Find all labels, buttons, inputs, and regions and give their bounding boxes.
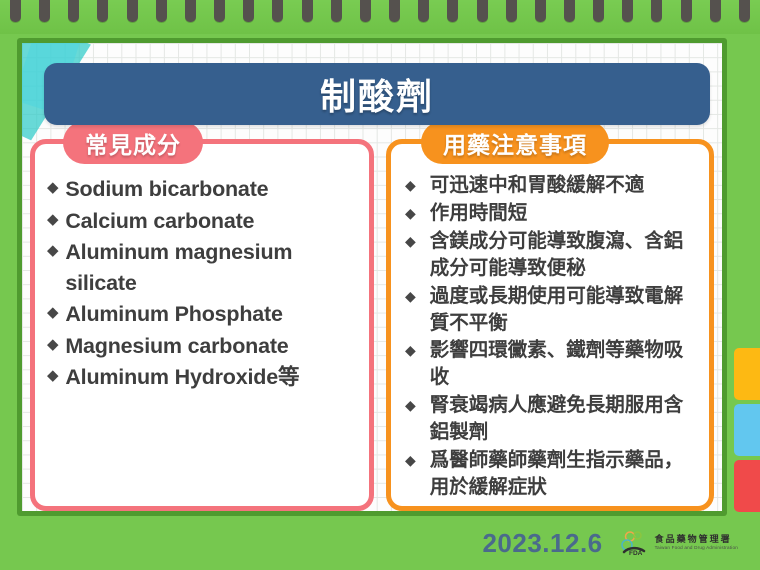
- title-banner: 制酸劑: [44, 63, 710, 125]
- diamond-bullet-icon: ◆: [47, 368, 58, 383]
- infographic-poster: 制酸劑 常見成分 ◆ Sodium bicarbonate ◆: [0, 0, 760, 570]
- spiral-ring-icon: [651, 0, 662, 22]
- list-item-label: 可迅速中和胃酸緩解不適: [430, 172, 645, 199]
- list-item-label: Aluminum magnesium silicate: [65, 237, 361, 298]
- list-item: ◆ 含鎂成分可能導致腹瀉、含鋁成分可能導致便秘: [401, 228, 701, 282]
- diamond-bullet-icon: ◆: [405, 289, 416, 303]
- list-item: ◆ Sodium bicarbonate: [47, 174, 361, 205]
- diamond-bullet-icon: ◆: [405, 234, 416, 248]
- spiral-ring-icon: [68, 0, 79, 22]
- svg-text:FDA: FDA: [629, 550, 643, 556]
- precautions-panel: 用藥注意事項 ◆ 可迅速中和胃酸緩解不適 ◆ 作用時間短 ◆: [386, 139, 714, 511]
- spiral-ring-icon: [593, 0, 604, 22]
- tfda-logo-mark-icon: FDA: [621, 530, 651, 556]
- common-ingredients-list: ◆ Sodium bicarbonate ◆ Calcium carbonate…: [35, 144, 369, 400]
- tfda-name-en: Taiwan Food and Drug Administration: [655, 546, 738, 551]
- list-item-label: 爲醫師藥師藥劑生指示藥品，用於緩解症狀: [430, 447, 701, 501]
- diamond-bullet-icon: ◆: [405, 343, 416, 357]
- diamond-bullet-icon: ◆: [47, 180, 58, 195]
- spiral-ring-icon: [156, 0, 167, 22]
- precautions-list: ◆ 可迅速中和胃酸緩解不適 ◆ 作用時間短 ◆ 含鎂成分可能導致腹瀉、含鋁成分可…: [391, 144, 709, 508]
- list-item-label: 影響四環黴素、鐵劑等藥物吸收: [430, 337, 701, 391]
- red-tab: [734, 460, 760, 512]
- spiral-ring-icon: [97, 0, 108, 22]
- diamond-bullet-icon: ◆: [405, 398, 416, 412]
- tfda-logo: FDA 食品藥物管理署 Taiwan Food and Drug Adminis…: [621, 530, 738, 556]
- spiral-ring-icon: [506, 0, 517, 22]
- spiral-ring-icon: [214, 0, 225, 22]
- list-item: ◆ 可迅速中和胃酸緩解不適: [401, 172, 701, 199]
- diamond-bullet-icon: ◆: [405, 178, 416, 192]
- diamond-bullet-icon: ◆: [47, 243, 58, 258]
- spiral-ring-icon: [243, 0, 254, 22]
- common-ingredients-header: 常見成分: [63, 121, 203, 164]
- list-item-label: Aluminum Phosphate: [65, 299, 282, 330]
- list-item: ◆ 影響四環黴素、鐵劑等藥物吸收: [401, 337, 701, 391]
- grid-paper-sheet: 制酸劑 常見成分 ◆ Sodium bicarbonate ◆: [22, 43, 722, 511]
- spiral-ring-icon: [272, 0, 283, 22]
- list-item-label: Sodium bicarbonate: [65, 174, 268, 205]
- diamond-bullet-icon: ◆: [47, 337, 58, 352]
- list-item-label: 腎衰竭病人應避免長期服用含鋁製劑: [430, 392, 701, 446]
- content-panels: 常見成分 ◆ Sodium bicarbonate ◆ Calcium carb…: [22, 139, 722, 511]
- spiral-ring-icon: [564, 0, 575, 22]
- list-item: ◆ 作用時間短: [401, 200, 701, 227]
- spiral-ring-icon: [622, 0, 633, 22]
- spiral-ring-icon: [681, 0, 692, 22]
- spiral-ring-icon: [447, 0, 458, 22]
- publish-date: 2023.12.6: [482, 528, 602, 559]
- list-item-label: 含鎂成分可能導致腹瀉、含鋁成分可能導致便秘: [430, 228, 701, 282]
- diamond-bullet-icon: ◆: [47, 212, 58, 227]
- list-item-label: 作用時間短: [430, 200, 528, 227]
- spiral-ring-icon: [39, 0, 50, 22]
- list-item: ◆ 爲醫師藥師藥劑生指示藥品，用於緩解症狀: [401, 447, 701, 501]
- list-item: ◆ Magnesium carbonate: [47, 331, 361, 362]
- list-item-label: 過度或長期使用可能導致電解質不平衡: [430, 283, 701, 337]
- spiral-ring-icon: [418, 0, 429, 22]
- page-title: 制酸劑: [320, 68, 434, 120]
- list-item: ◆ Aluminum Hydroxide等: [47, 362, 361, 393]
- spiral-ring-icon: [331, 0, 342, 22]
- cyan-tab: [734, 404, 760, 456]
- list-item-label: Aluminum Hydroxide等: [65, 362, 299, 393]
- tfda-logo-text: 食品藥物管理署 Taiwan Food and Drug Administrat…: [655, 535, 738, 551]
- spiral-ring-icon: [739, 0, 750, 22]
- spiral-ring-icon: [10, 0, 21, 22]
- list-item: ◆ Aluminum Phosphate: [47, 299, 361, 330]
- precautions-header-label: 用藥注意事項: [443, 126, 587, 160]
- list-item: ◆ Calcium carbonate: [47, 206, 361, 237]
- spiral-ring-icon: [185, 0, 196, 22]
- tfda-name-cn: 食品藥物管理署: [655, 535, 738, 544]
- spiral-ring-icon: [127, 0, 138, 22]
- amber-tab: [734, 348, 760, 400]
- spiral-ring-icon: [477, 0, 488, 22]
- spiral-binding: [0, 0, 760, 30]
- common-ingredients-panel: 常見成分 ◆ Sodium bicarbonate ◆ Calcium carb…: [30, 139, 374, 511]
- list-item: ◆ Aluminum magnesium silicate: [47, 237, 361, 298]
- spiral-ring-icon: [389, 0, 400, 22]
- spiral-ring-icon: [535, 0, 546, 22]
- diamond-bullet-icon: ◆: [47, 305, 58, 320]
- list-item: ◆ 過度或長期使用可能導致電解質不平衡: [401, 283, 701, 337]
- poster-frame: 制酸劑 常見成分 ◆ Sodium bicarbonate ◆: [17, 38, 727, 516]
- spiral-ring-icon: [302, 0, 313, 22]
- diamond-bullet-icon: ◆: [405, 453, 416, 467]
- common-ingredients-header-label: 常見成分: [85, 126, 181, 160]
- list-item-label: Calcium carbonate: [65, 206, 254, 237]
- list-item-label: Magnesium carbonate: [65, 331, 288, 362]
- diamond-bullet-icon: ◆: [405, 206, 416, 220]
- list-item: ◆ 腎衰竭病人應避免長期服用含鋁製劑: [401, 392, 701, 446]
- spiral-ring-icon: [710, 0, 721, 22]
- footer: 2023.12.6 FDA 食品藥物管理署 Taiwan Food and Dr…: [0, 522, 760, 564]
- spiral-ring-icon: [360, 0, 371, 22]
- precautions-header: 用藥注意事項: [421, 121, 609, 164]
